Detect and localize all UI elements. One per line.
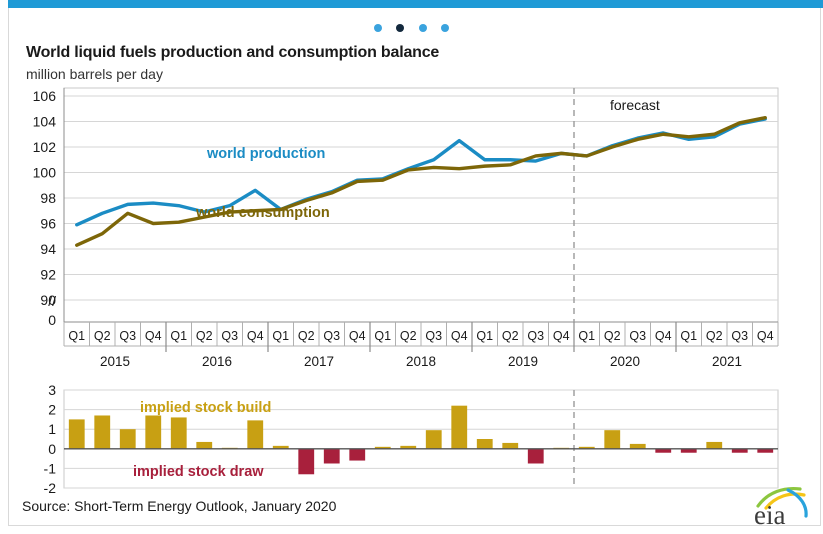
svg-text:2021: 2021 <box>712 354 742 369</box>
svg-text:2018: 2018 <box>406 354 436 369</box>
svg-text:92: 92 <box>40 267 56 283</box>
svg-text:Q2: Q2 <box>196 329 213 343</box>
svg-text:1: 1 <box>48 421 56 437</box>
svg-text:implied stock draw: implied stock draw <box>133 464 264 480</box>
svg-text:96: 96 <box>40 216 56 232</box>
svg-text:Q3: Q3 <box>221 329 238 343</box>
svg-text:Q4: Q4 <box>655 329 672 343</box>
svg-text:-2: -2 <box>44 480 57 496</box>
svg-text:Q3: Q3 <box>119 329 136 343</box>
svg-text:Q4: Q4 <box>553 329 570 343</box>
svg-text:2019: 2019 <box>508 354 538 369</box>
chart-canvas: 1061041021009896949290//0forecastworld p… <box>0 0 823 534</box>
svg-text:forecast: forecast <box>610 97 660 113</box>
svg-text:Q3: Q3 <box>527 329 544 343</box>
svg-text://: // <box>48 293 56 309</box>
svg-text:Q4: Q4 <box>757 329 774 343</box>
svg-text:Q1: Q1 <box>374 329 391 343</box>
svg-text:Q2: Q2 <box>298 329 315 343</box>
svg-text:Q1: Q1 <box>578 329 595 343</box>
svg-text:100: 100 <box>33 165 57 181</box>
svg-text:0: 0 <box>48 312 56 328</box>
svg-text:Q2: Q2 <box>502 329 519 343</box>
svg-text:94: 94 <box>40 241 56 257</box>
svg-text:3: 3 <box>48 382 56 398</box>
svg-text:Q1: Q1 <box>476 329 493 343</box>
svg-text:Q4: Q4 <box>145 329 162 343</box>
svg-text:Q2: Q2 <box>604 329 621 343</box>
svg-text:Q3: Q3 <box>425 329 442 343</box>
svg-text:2: 2 <box>48 402 56 418</box>
svg-text:Q3: Q3 <box>731 329 748 343</box>
svg-text:Q1: Q1 <box>68 329 85 343</box>
svg-text:implied stock build: implied stock build <box>140 400 271 416</box>
svg-text:Q4: Q4 <box>451 329 468 343</box>
svg-text:Q2: Q2 <box>400 329 417 343</box>
svg-text:Q4: Q4 <box>349 329 366 343</box>
svg-text:Q1: Q1 <box>170 329 187 343</box>
svg-text:Q3: Q3 <box>323 329 340 343</box>
source-note: Source: Short-Term Energy Outlook, Janua… <box>22 498 336 514</box>
svg-text:Q2: Q2 <box>706 329 723 343</box>
svg-text:98: 98 <box>40 190 56 206</box>
svg-text:2016: 2016 <box>202 354 232 369</box>
svg-text:2017: 2017 <box>304 354 334 369</box>
svg-text:Q4: Q4 <box>247 329 264 343</box>
svg-text:Q3: Q3 <box>629 329 646 343</box>
svg-text:2015: 2015 <box>100 354 130 369</box>
svg-text:Q2: Q2 <box>94 329 111 343</box>
svg-text:106: 106 <box>33 88 57 104</box>
svg-text:2020: 2020 <box>610 354 640 369</box>
svg-text:104: 104 <box>33 114 57 130</box>
svg-text:0: 0 <box>48 441 56 457</box>
svg-text:world consumption: world consumption <box>195 205 330 221</box>
svg-text:-1: -1 <box>44 460 57 476</box>
svg-text:Q1: Q1 <box>272 329 289 343</box>
eia-logo-text: eia <box>754 500 785 530</box>
svg-text:Q1: Q1 <box>680 329 697 343</box>
eia-logo: eia <box>744 486 814 530</box>
svg-text:102: 102 <box>33 139 57 155</box>
svg-text:world production: world production <box>206 146 325 162</box>
